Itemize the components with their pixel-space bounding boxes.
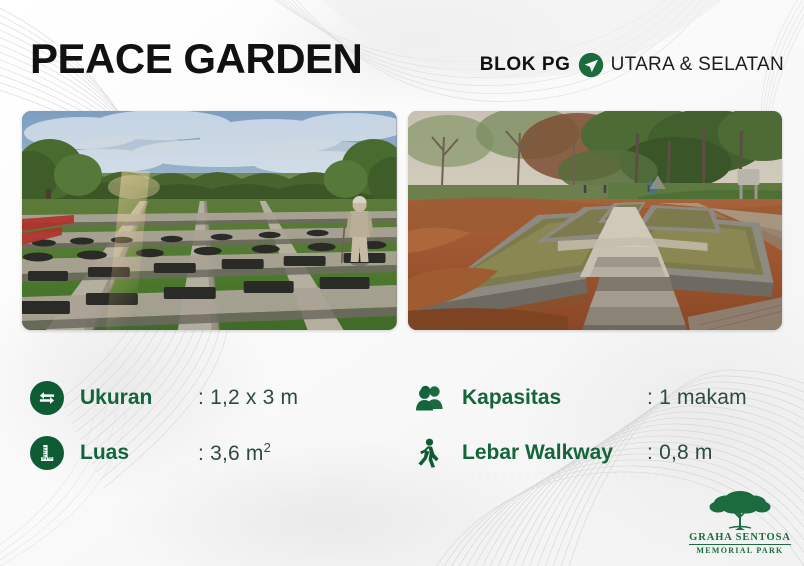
tree-icon [709,487,771,531]
spec-label-lebar-walkway: Lebar Walkway [462,441,647,465]
block-badge: BLOK PG UTARA & SELATAN [480,52,784,78]
spec-column-left: Ukuran : 1,2 x 3 m [30,370,410,480]
spec-label-luas: Luas [80,441,198,465]
spec-value-kapasitas: : 1 makam [647,386,747,410]
spec-value-luas-text: : 3,6 m [198,442,264,465]
specifications: Ukuran : 1,2 x 3 m [0,370,804,485]
block-code-label: BLOK PG [480,54,571,76]
spec-value-lebar-walkway: : 0,8 m [647,441,713,465]
photo-gallery [22,111,782,330]
double-arrow-horizontal-icon [30,381,64,415]
spec-value-luas-superscript: 2 [264,440,271,455]
poster-page: PEACE GARDEN BLOK PG UTARA & SELATAN [0,0,804,566]
spec-column-right: Kapasitas : 1 makam Lebar Walkway : 0,8 … [412,370,792,480]
photo-memorial-park-construction [408,111,783,330]
page-title: PEACE GARDEN [30,38,362,80]
logo-name: GRAHA SENTOSA [689,532,791,545]
spec-value-ukuran: : 1,2 x 3 m [198,386,298,410]
spec-label-ukuran: Ukuran [80,386,198,410]
logo-subtitle: MEMORIAL PARK [696,546,783,556]
photo-memorial-park-completed [22,111,397,330]
spec-label-kapasitas: Kapasitas [462,386,647,410]
block-area-label: UTARA & SELATAN [611,54,784,76]
walking-person-icon [412,436,446,470]
header: PEACE GARDEN BLOK PG UTARA & SELATAN [0,0,804,108]
location-pin-icon [578,52,604,78]
ruler-icon [30,436,64,470]
spec-value-luas: : 3,6 m2 [198,440,271,466]
spec-row-ukuran: Ukuran : 1,2 x 3 m [30,370,410,425]
brand-logo: GRAHA SENTOSA MEMORIAL PARK [688,484,792,556]
spec-row-kapasitas: Kapasitas : 1 makam [412,370,792,425]
spec-row-luas: Luas : 3,6 m2 [30,425,410,480]
spec-row-lebar-walkway: Lebar Walkway : 0,8 m [412,425,792,480]
people-group-icon [412,381,446,415]
